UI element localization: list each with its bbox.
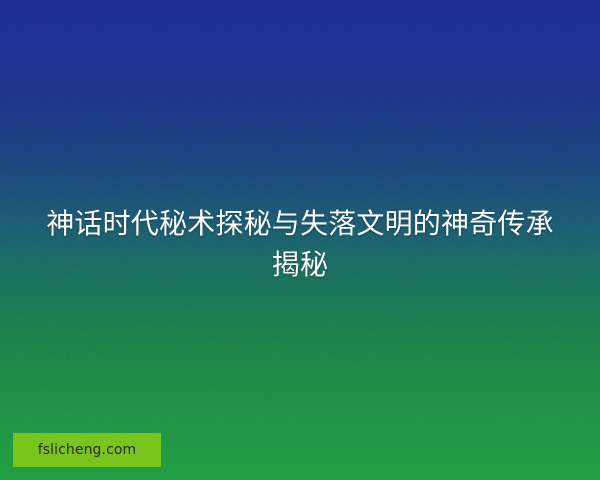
page-title: 神话时代秘术探秘与失落文明的神奇传承 揭秘 [0, 203, 600, 285]
watermark-label: fslicheng.com [38, 442, 137, 458]
page-title-line-2: 揭秘 [0, 244, 600, 285]
image-canvas: 神话时代秘术探秘与失落文明的神奇传承 揭秘 fslicheng.com [0, 0, 600, 480]
page-title-line-1: 神话时代秘术探秘与失落文明的神奇传承 [0, 203, 600, 244]
watermark-badge[interactable]: fslicheng.com [13, 433, 161, 467]
